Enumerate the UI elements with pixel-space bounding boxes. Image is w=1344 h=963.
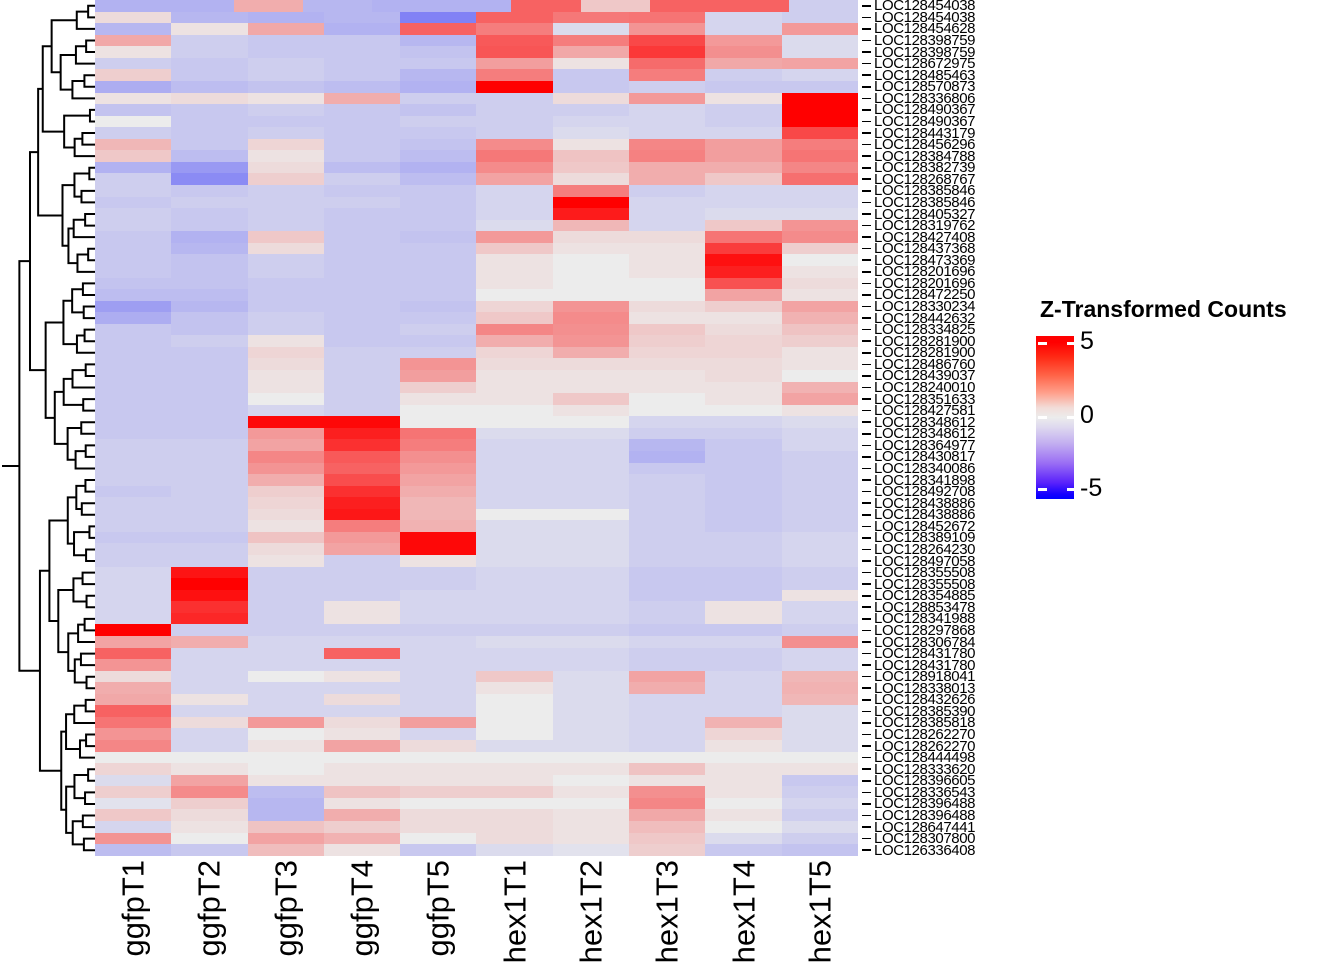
heatmap-cell — [553, 104, 629, 116]
heatmap-cell — [171, 58, 247, 70]
heatmap-cell — [248, 798, 324, 810]
heatmap-cell — [248, 648, 324, 660]
heatmap-cell — [95, 509, 171, 521]
heatmap-cell — [705, 659, 781, 671]
heatmap-cell — [248, 682, 324, 694]
heatmap-cell — [324, 798, 400, 810]
heatmap-cell — [95, 162, 171, 174]
heatmap-cell — [782, 613, 858, 625]
heatmap-cell — [705, 278, 781, 290]
heatmap-cell — [705, 162, 781, 174]
heatmap-cell — [324, 208, 400, 220]
heatmap-row — [95, 358, 858, 370]
heatmap-cell — [476, 578, 552, 590]
row-tick — [862, 121, 871, 123]
heatmap-cell — [553, 278, 629, 290]
heatmap-cell — [400, 231, 476, 243]
heatmap-row — [95, 532, 858, 544]
heatmap-cell — [782, 278, 858, 290]
heatmap-cell — [324, 93, 400, 105]
heatmap-cell — [248, 555, 324, 567]
heatmap-cell — [629, 127, 705, 139]
heatmap-cell — [476, 439, 552, 451]
heatmap-cell — [629, 624, 705, 636]
heatmap-row — [95, 428, 858, 440]
row-tick — [862, 583, 871, 585]
heatmap-cell — [553, 301, 629, 313]
heatmap-row — [95, 46, 858, 58]
row-tick — [862, 190, 871, 192]
heatmap-cell — [400, 162, 476, 174]
heatmap-cell — [400, 532, 476, 544]
heatmap-cell — [324, 12, 400, 24]
heatmap-cell — [171, 809, 247, 821]
heatmap-cell — [705, 833, 781, 845]
heatmap-cell — [782, 833, 858, 845]
heatmap-cell — [171, 162, 247, 174]
heatmap-row — [95, 289, 858, 301]
heatmap-cell — [324, 289, 400, 301]
heatmap-cell — [553, 266, 629, 278]
column-label-text: ggfpT4 — [347, 860, 378, 957]
heatmap-cell — [400, 590, 476, 602]
heatmap-cell — [400, 809, 476, 821]
heatmap-cell — [782, 220, 858, 232]
heatmap-cell — [171, 486, 247, 498]
heatmap-cell — [553, 659, 629, 671]
heatmap-cell — [629, 289, 705, 301]
heatmap-cell — [171, 185, 247, 197]
heatmap-cell — [553, 197, 629, 209]
heatmap-cell — [705, 809, 781, 821]
heatmap-cell — [324, 162, 400, 174]
row-tick — [862, 595, 871, 597]
heatmap-cell — [705, 740, 781, 752]
heatmap-cell — [705, 486, 781, 498]
heatmap-cell — [705, 439, 781, 451]
heatmap-cell — [400, 636, 476, 648]
heatmap-row — [95, 370, 858, 382]
heatmap-cell — [782, 809, 858, 821]
column-label-text: ggfpT2 — [194, 860, 225, 957]
dendrogram-link — [83, 399, 95, 411]
heatmap-cell — [248, 486, 324, 498]
heatmap-cell — [629, 231, 705, 243]
heatmap-cell — [705, 301, 781, 313]
row-tick — [862, 745, 871, 747]
heatmap-cell — [324, 254, 400, 266]
heatmap-cell — [553, 567, 629, 579]
heatmap-cell — [476, 405, 552, 417]
heatmap-cell — [95, 116, 171, 128]
dendrogram-link — [87, 596, 95, 608]
heatmap-cell — [553, 486, 629, 498]
heatmap-cell — [324, 497, 400, 509]
heatmap-cell — [782, 786, 858, 798]
heatmap-cell — [782, 243, 858, 255]
row-tick — [862, 653, 871, 655]
heatmap-cell — [553, 358, 629, 370]
heatmap-cell — [171, 266, 247, 278]
heatmap-cell — [95, 324, 171, 336]
heatmap-cell — [553, 382, 629, 394]
dendrogram-link — [84, 307, 95, 319]
heatmap-cell — [324, 705, 400, 717]
heatmap-cell — [629, 243, 705, 255]
row-tick — [862, 618, 871, 620]
heatmap-cell — [629, 717, 705, 729]
heatmap-cell — [782, 69, 858, 81]
heatmap-cell — [400, 624, 476, 636]
heatmap-cell — [171, 208, 247, 220]
heatmap-cell — [171, 648, 247, 660]
row-tick — [862, 514, 871, 516]
heatmap-cell — [476, 474, 552, 486]
heatmap-cell — [782, 624, 858, 636]
row-tick — [862, 132, 871, 134]
heatmap-cell — [629, 555, 705, 567]
heatmap-cell — [400, 335, 476, 347]
heatmap-cell — [553, 786, 629, 798]
column-label-2: ggfpT3 — [248, 856, 324, 960]
heatmap-cell — [553, 613, 629, 625]
heatmap-row — [95, 555, 858, 567]
heatmap-cell — [553, 127, 629, 139]
heatmap-row — [95, 463, 858, 475]
heatmap-cell — [248, 763, 324, 775]
heatmap-cell — [553, 601, 629, 613]
heatmap-cell — [705, 335, 781, 347]
heatmap-cell — [324, 416, 400, 428]
heatmap-cell — [782, 659, 858, 671]
heatmap-cell — [171, 46, 247, 58]
heatmap-cell — [400, 405, 476, 417]
heatmap-cell — [705, 382, 781, 394]
heatmap-cell — [581, 0, 650, 12]
heatmap-cell — [782, 578, 858, 590]
heatmap-cell — [782, 324, 858, 336]
heatmap-cell — [400, 705, 476, 717]
heatmap-cell — [553, 821, 629, 833]
heatmap-cell — [95, 405, 171, 417]
heatmap-cell — [553, 162, 629, 174]
heatmap-cell — [553, 728, 629, 740]
heatmap-cell — [629, 312, 705, 324]
row-tick — [862, 28, 871, 30]
heatmap-cell — [782, 185, 858, 197]
heatmap-cell — [400, 69, 476, 81]
heatmap-cell — [782, 844, 858, 856]
row-tick — [862, 40, 871, 42]
heatmap-cell — [324, 451, 400, 463]
heatmap-cell — [553, 93, 629, 105]
heatmap-cell — [476, 717, 552, 729]
row-tick — [862, 86, 871, 88]
heatmap-cell — [553, 717, 629, 729]
heatmap-cell — [248, 613, 324, 625]
heatmap-cell — [95, 416, 171, 428]
heatmap-cell — [705, 590, 781, 602]
row-tick — [862, 456, 871, 458]
heatmap-cell — [324, 81, 400, 93]
heatmap-cell — [705, 682, 781, 694]
heatmap-cell — [95, 451, 171, 463]
heatmap-cell — [171, 613, 247, 625]
heatmap-cell — [400, 173, 476, 185]
heatmap-row — [95, 682, 858, 694]
heatmap-cell — [476, 35, 552, 47]
heatmap-cell — [248, 370, 324, 382]
heatmap-cell — [95, 821, 171, 833]
dendrogram-link — [85, 214, 95, 226]
heatmap-cell — [476, 416, 552, 428]
heatmap-cell — [95, 12, 171, 24]
heatmap-row — [95, 717, 858, 729]
heatmap-cell — [400, 786, 476, 798]
heatmap-cell — [476, 46, 552, 58]
heatmap-cell — [95, 682, 171, 694]
heatmap-cell — [324, 728, 400, 740]
heatmap-row — [95, 35, 858, 47]
heatmap-row — [95, 671, 858, 683]
heatmap-cell — [324, 520, 400, 532]
heatmap-cell — [95, 382, 171, 394]
dendrogram-link — [74, 706, 95, 723]
heatmap-cell — [171, 439, 247, 451]
heatmap-cell — [629, 798, 705, 810]
heatmap-cell — [782, 393, 858, 405]
heatmap-cell — [705, 358, 781, 370]
heatmap-cell — [324, 139, 400, 151]
heatmap-cell — [248, 567, 324, 579]
dendrogram-link — [85, 792, 95, 804]
heatmap-cell — [400, 543, 476, 555]
heatmap-cell — [171, 104, 247, 116]
heatmap-cell — [629, 370, 705, 382]
heatmap-cell — [95, 93, 171, 105]
row-tick — [862, 387, 871, 389]
legend-label-low: -5 — [1080, 476, 1102, 501]
heatmap-cell — [324, 439, 400, 451]
heatmap-cell — [324, 740, 400, 752]
column-label-text: hex1T2 — [575, 860, 606, 963]
heatmap-cell — [95, 254, 171, 266]
column-label-text: ggfpT5 — [423, 860, 454, 957]
heatmap-cell — [324, 150, 400, 162]
heatmap-cell — [248, 474, 324, 486]
heatmap-cell — [705, 821, 781, 833]
heatmap-cell — [95, 694, 171, 706]
heatmap-cell — [553, 335, 629, 347]
dendrogram-link — [74, 775, 88, 798]
column-label-text: hex1T4 — [728, 860, 759, 963]
heatmap-cell — [95, 555, 171, 567]
heatmap-cell — [248, 197, 324, 209]
heatmap-cell — [553, 173, 629, 185]
heatmap-cell — [476, 590, 552, 602]
heatmap-cell — [248, 624, 324, 636]
heatmap-cell — [400, 486, 476, 498]
heatmap-cell — [324, 382, 400, 394]
heatmap-cell — [553, 439, 629, 451]
heatmap-cell — [629, 844, 705, 856]
heatmap-cell — [629, 254, 705, 266]
heatmap-cell — [95, 231, 171, 243]
heatmap-cell — [476, 601, 552, 613]
row-tick — [862, 803, 871, 805]
heatmap-cell — [95, 428, 171, 440]
heatmap-cell — [95, 393, 171, 405]
heatmap-cell — [476, 301, 552, 313]
heatmap-cell — [629, 382, 705, 394]
heatmap-row — [95, 393, 858, 405]
heatmap-cell — [400, 208, 476, 220]
heatmap-cell — [705, 127, 781, 139]
legend: Z-Transformed Counts 5 0 -5 — [1034, 296, 1334, 516]
heatmap-cell — [248, 173, 324, 185]
heatmap-cell — [782, 150, 858, 162]
heatmap-cell — [553, 474, 629, 486]
heatmap-cell — [476, 428, 552, 440]
row-tick — [862, 202, 871, 204]
heatmap-cell — [95, 717, 171, 729]
row-tick — [862, 445, 871, 447]
heatmap-cell — [248, 463, 324, 475]
heatmap-cell — [705, 324, 781, 336]
column-label-6: hex1T2 — [553, 856, 629, 960]
row-tick — [862, 167, 871, 169]
heatmap-cell — [324, 220, 400, 232]
heatmap-cell — [476, 173, 552, 185]
heatmap-row — [95, 486, 858, 498]
row-tick — [862, 98, 871, 100]
dendrogram-link — [86, 735, 95, 747]
heatmap-cell — [324, 58, 400, 70]
heatmap-cell — [248, 208, 324, 220]
heatmap-cell — [95, 578, 171, 590]
heatmap-cell — [629, 601, 705, 613]
heatmap-cell — [248, 833, 324, 845]
heatmap-cell — [629, 162, 705, 174]
heatmap-cell — [400, 393, 476, 405]
heatmap-row — [95, 763, 858, 775]
heatmap-cell — [705, 775, 781, 787]
heatmap-cell — [171, 763, 247, 775]
dendrogram-link — [80, 740, 95, 757]
heatmap-cell — [400, 104, 476, 116]
heatmap-cell — [324, 590, 400, 602]
heatmap-cell — [629, 81, 705, 93]
dendrogram-link — [84, 75, 95, 87]
heatmap-cell — [476, 243, 552, 255]
heatmap-cell — [400, 659, 476, 671]
heatmap-cell — [782, 162, 858, 174]
heatmap-row — [95, 497, 858, 509]
heatmap-cell — [171, 474, 247, 486]
row-tick — [862, 155, 871, 157]
heatmap-cell — [629, 139, 705, 151]
heatmap-cell — [95, 185, 171, 197]
heatmap-cell — [95, 463, 171, 475]
column-label-4: ggfpT5 — [400, 856, 476, 960]
heatmap-cell — [400, 312, 476, 324]
heatmap-cell — [248, 786, 324, 798]
heatmap-cell — [324, 116, 400, 128]
row-tick — [862, 641, 871, 643]
heatmap-cell — [248, 405, 324, 417]
dendrogram-link — [81, 422, 95, 434]
heatmap-cell — [171, 289, 247, 301]
row-tick — [862, 109, 871, 111]
heatmap-cell — [324, 786, 400, 798]
heatmap-cell — [553, 46, 629, 58]
heatmap-cell — [372, 0, 441, 12]
heatmap-cell — [324, 543, 400, 555]
heatmap-cell — [400, 220, 476, 232]
heatmap-cell — [553, 324, 629, 336]
heatmap-row — [95, 197, 858, 209]
heatmap-row — [95, 335, 858, 347]
column-label-9: hex1T5 — [782, 856, 858, 960]
heatmap-cell — [553, 648, 629, 660]
heatmap-cell — [324, 694, 400, 706]
heatmap-cell — [629, 821, 705, 833]
heatmap-cell — [95, 624, 171, 636]
heatmap-cell — [705, 844, 781, 856]
heatmap-row — [95, 659, 858, 671]
heatmap-cell — [705, 543, 781, 555]
heatmap-row — [95, 728, 858, 740]
heatmap-cell — [629, 347, 705, 359]
heatmap-row — [95, 405, 858, 417]
heatmap-cell — [400, 474, 476, 486]
heatmap-cell — [705, 254, 781, 266]
row-tick — [862, 826, 871, 828]
heatmap-cell — [171, 590, 247, 602]
column-label-text: hex1T1 — [499, 860, 530, 963]
heatmap-cell — [324, 335, 400, 347]
heatmap-cell — [782, 705, 858, 717]
heatmap-cell — [95, 23, 171, 35]
heatmap-cell — [324, 197, 400, 209]
dendrogram-link — [86, 445, 95, 457]
heatmap-cell — [705, 46, 781, 58]
heatmap-cell — [705, 636, 781, 648]
heatmap-cell — [171, 844, 247, 856]
heatmap-cell — [248, 671, 324, 683]
row-tick — [862, 398, 871, 400]
heatmap-row — [95, 220, 858, 232]
heatmap-cell — [629, 301, 705, 313]
column-label-1: ggfpT2 — [171, 856, 247, 960]
heatmap-cell — [248, 185, 324, 197]
heatmap-cell — [248, 705, 324, 717]
column-label-text: ggfpT3 — [270, 860, 301, 957]
heatmap-cell — [400, 520, 476, 532]
heatmap-cell — [629, 705, 705, 717]
heatmap-cell — [171, 405, 247, 417]
heatmap-cell — [705, 139, 781, 151]
heatmap-cell — [782, 428, 858, 440]
heatmap-cell — [705, 347, 781, 359]
heatmap-cell — [95, 358, 171, 370]
heatmap-row — [95, 301, 858, 313]
heatmap-cell — [705, 451, 781, 463]
heatmap-cell — [171, 231, 247, 243]
heatmap-cell — [324, 312, 400, 324]
heatmap-cell — [324, 301, 400, 313]
heatmap-row — [95, 104, 858, 116]
